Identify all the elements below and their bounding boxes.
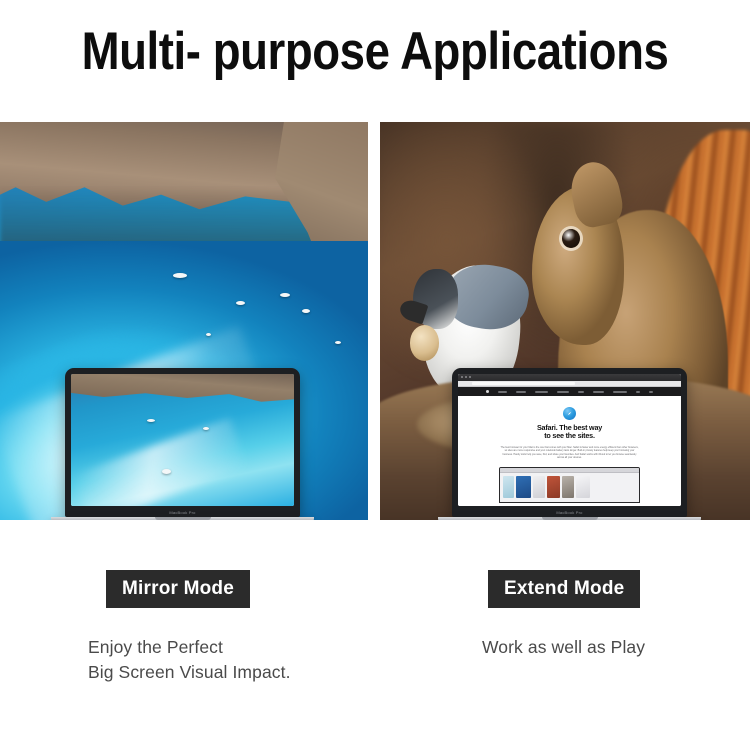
- apple-logo-icon[interactable]: [486, 390, 489, 393]
- showcase-panels: MacBook Pro: [0, 122, 750, 522]
- laptop-lid: MacBook Pro: [65, 368, 300, 517]
- safari-start-page-screenshot: [499, 467, 639, 503]
- laptop-brand-label: MacBook Pro: [65, 510, 300, 515]
- laptop-base: [438, 517, 701, 520]
- safari-hero: Safari. The best way to see the sites. T…: [458, 396, 681, 460]
- tile-thumbnail: [562, 476, 574, 498]
- browser-titlebar: [458, 374, 681, 381]
- laptop-notch: [155, 517, 211, 520]
- address-bar[interactable]: [458, 381, 681, 387]
- safari-compass-icon: [563, 407, 576, 420]
- laptop-lid: Safari. The best way to see the sites. T…: [452, 368, 687, 517]
- nav-item-iphone[interactable]: [535, 391, 548, 393]
- mirror-caption-line2: Big Screen Visual Impact.: [88, 660, 375, 685]
- status-badge-extend-mode: Extend Mode: [488, 570, 640, 608]
- zoom-icon[interactable]: [469, 376, 471, 378]
- mirror-badge-wrap: Mirror Mode: [0, 570, 375, 608]
- macbook-mirror: MacBook Pro: [65, 368, 300, 520]
- tile-thumbnail: [503, 476, 514, 498]
- boat-icon: [203, 427, 209, 430]
- extend-badge-wrap: Extend Mode: [375, 570, 750, 608]
- bag-icon[interactable]: [649, 391, 653, 393]
- close-icon[interactable]: [461, 376, 463, 378]
- boat-icon: [206, 333, 211, 336]
- nav-item-mac[interactable]: [498, 391, 507, 393]
- status-badge-mirror-mode: Mirror Mode: [106, 570, 250, 608]
- tile-thumbnail: [533, 476, 545, 498]
- nav-item-tv[interactable]: [578, 391, 584, 393]
- safari-headline-line2: to see the sites.: [458, 432, 681, 440]
- mirror-mode-label-group: Mirror Mode Enjoy the Perfect Big Screen…: [0, 570, 375, 685]
- laptop-screen: [71, 374, 294, 506]
- screenshot-tiles: [500, 473, 638, 501]
- boat-icon: [335, 341, 341, 344]
- seed-nut: [410, 325, 440, 361]
- tile-thumbnail: [576, 476, 590, 498]
- search-icon[interactable]: [636, 391, 640, 393]
- macbook-extend: Safari. The best way to see the sites. T…: [452, 368, 687, 520]
- window-controls[interactable]: [461, 376, 471, 378]
- wallpaper-foam: [72, 418, 249, 506]
- nav-item-music[interactable]: [593, 391, 604, 393]
- laptop-brand-label: MacBook Pro: [452, 510, 687, 515]
- extend-caption: Work as well as Play: [375, 635, 750, 660]
- nav-item-watch[interactable]: [557, 391, 569, 393]
- tile-thumbnail: [547, 476, 560, 498]
- boat-icon: [280, 293, 290, 297]
- laptop-notch: [542, 517, 598, 520]
- tile-thumbnail: [516, 476, 531, 498]
- boat-icon: [147, 419, 155, 422]
- mode-labels: Mirror Mode Enjoy the Perfect Big Screen…: [0, 570, 750, 720]
- laptop-base: [51, 517, 314, 520]
- minimize-icon[interactable]: [465, 376, 467, 378]
- panel-extend-mode: Safari. The best way to see the sites. T…: [380, 122, 750, 520]
- boat-icon: [236, 301, 245, 305]
- boat-icon: [302, 309, 310, 313]
- panel-mirror-mode: MacBook Pro: [0, 122, 368, 520]
- mirror-caption: Enjoy the Perfect Big Screen Visual Impa…: [0, 635, 375, 685]
- apple-global-nav[interactable]: [458, 387, 681, 396]
- mirror-caption-line1: Enjoy the Perfect: [88, 635, 375, 660]
- safari-webpage: Safari. The best way to see the sites. T…: [458, 374, 681, 506]
- nav-item-ipad[interactable]: [516, 391, 526, 393]
- nav-item-support[interactable]: [613, 391, 627, 393]
- laptop-screen: Safari. The best way to see the sites. T…: [458, 374, 681, 506]
- extend-caption-line1: Work as well as Play: [482, 635, 750, 660]
- page-title: Multi- purpose Applications: [53, 22, 698, 82]
- mirrored-beach-wallpaper: [71, 374, 294, 506]
- safari-body-text: The best browser for your Mac is the one…: [500, 446, 638, 460]
- wallpaper-cliff: [71, 374, 294, 419]
- extend-mode-label-group: Extend Mode Work as well as Play: [375, 570, 750, 660]
